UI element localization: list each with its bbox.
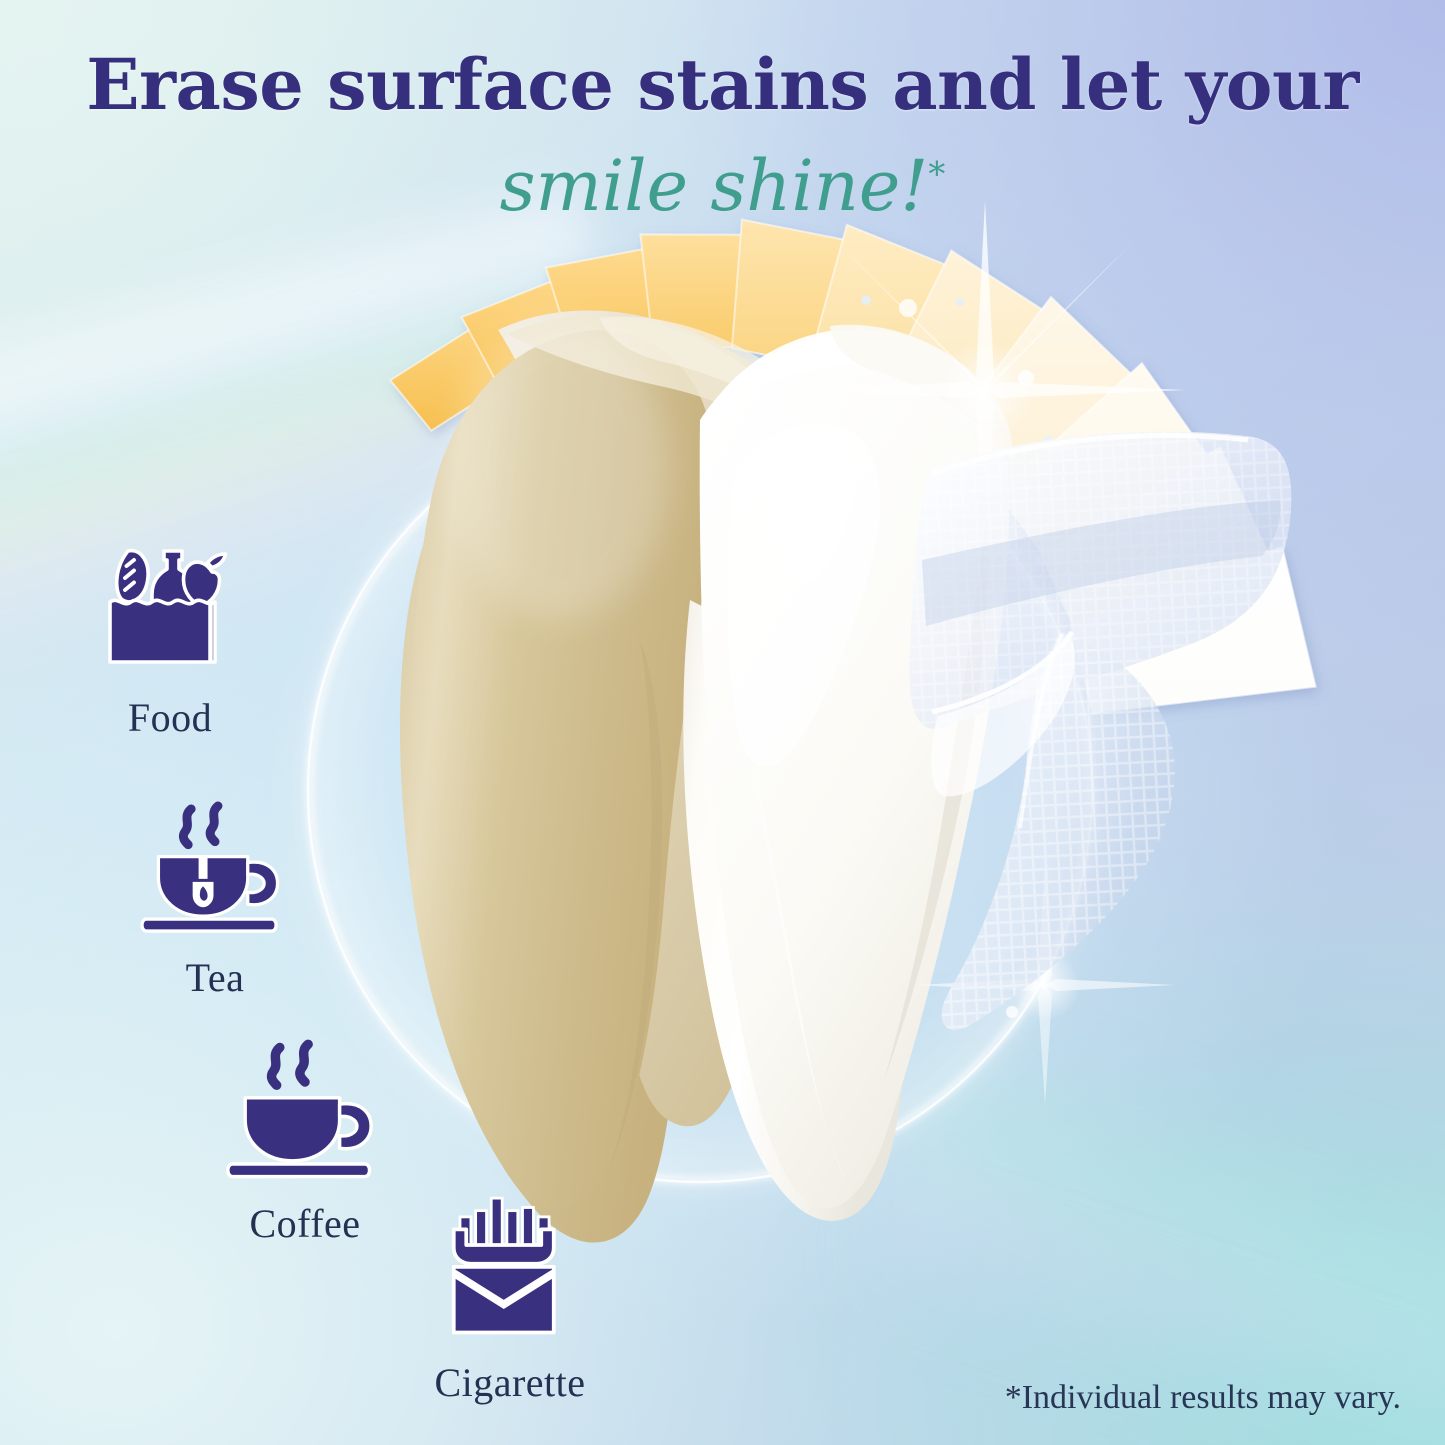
- stain-source-label-food: Food: [60, 694, 280, 741]
- headline-asterisk: *: [928, 155, 945, 195]
- headline-line-1: Erase surface stains and let your: [86, 43, 1358, 126]
- stain-source-food: Food: [60, 530, 280, 741]
- footnote-disclaimer: *Individual results may vary.: [1005, 1379, 1401, 1417]
- product-hero-image: Erase surface stains and let your smile …: [0, 0, 1445, 1445]
- headline-secondary: smile shine!*: [0, 150, 1445, 224]
- cigarette-pack-icon: [440, 1195, 580, 1345]
- teacup-icon: [140, 800, 290, 940]
- headline-primary: Erase surface stains and let your: [0, 48, 1445, 122]
- stain-source-label-coffee: Coffee: [190, 1200, 420, 1247]
- coffee-cup-icon: [225, 1038, 385, 1186]
- stain-source-cigarette: Cigarette: [400, 1195, 620, 1406]
- stain-source-tea: Tea: [105, 800, 325, 1001]
- stain-source-label-cigarette: Cigarette: [400, 1359, 620, 1406]
- stain-source-label-tea: Tea: [105, 954, 325, 1001]
- headline-line-2: smile shine!: [500, 145, 929, 227]
- stain-source-coffee: Coffee: [190, 1038, 420, 1247]
- grocery-bag-icon: [95, 530, 245, 680]
